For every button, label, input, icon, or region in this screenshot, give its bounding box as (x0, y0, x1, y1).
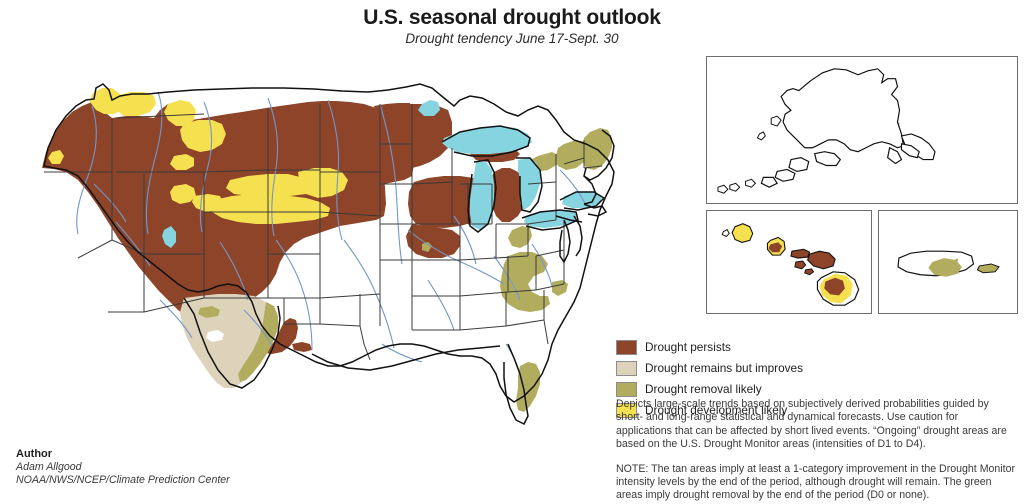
inset-hawaii (706, 210, 872, 314)
puerto-rico-islands (898, 251, 999, 277)
hawaii-map-svg (707, 211, 871, 313)
caption-note: NOTE: The tan areas imply at least a 1-c… (616, 463, 1016, 503)
legend-label-removal: Drought removal likely (645, 384, 762, 396)
inset-puerto-rico (878, 210, 1018, 314)
caption-block: Depicts large-scale trends based on subj… (616, 398, 1016, 503)
legend-label-improves: Drought remains but improves (645, 363, 803, 375)
conus-map-svg (8, 44, 698, 444)
author-name: Adam Allgood (16, 461, 346, 474)
inset-alaska (706, 56, 1018, 204)
author-affiliation: NOAA/NWS/NCEP/Climate Prediction Center (16, 474, 346, 487)
legend-swatch-removal (616, 382, 637, 397)
author-heading: Author (16, 448, 346, 461)
alaska-map-svg (707, 57, 1017, 203)
alaska-coastline (761, 69, 935, 187)
legend-column-left: Drought persists Drought remains but imp… (616, 338, 828, 380)
legend-item-improves: Drought remains but improves (616, 359, 828, 378)
conus-map (8, 44, 698, 444)
legend-item-persists: Drought persists (616, 338, 828, 357)
legend-swatch-improves (616, 361, 637, 376)
legend-swatch-persists (616, 340, 637, 355)
legend-item-removal: Drought removal likely (616, 380, 804, 399)
drought-outlook-figure: U.S. seasonal drought outlook Drought te… (0, 0, 1024, 504)
puerto-rico-map-svg (879, 211, 1017, 313)
page-title: U.S. seasonal drought outlook (0, 6, 1024, 29)
caption-depicts: Depicts large-scale trends based on subj… (616, 398, 1016, 452)
hawaii-islands (722, 224, 858, 305)
title-block: U.S. seasonal drought outlook Drought te… (0, 6, 1024, 47)
author-block: Author Adam Allgood NOAA/NWS/NCEP/Climat… (16, 448, 346, 487)
legend-label-persists: Drought persists (645, 342, 731, 354)
